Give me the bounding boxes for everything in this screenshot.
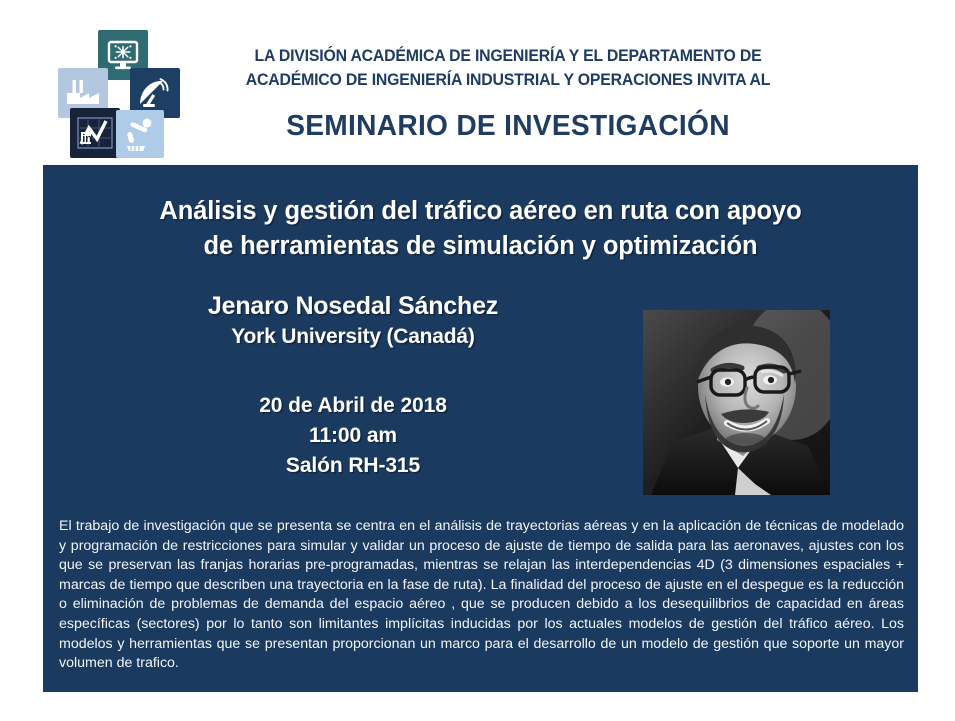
- talk-title-line-2: de herramientas de simulación y optimiza…: [71, 229, 890, 264]
- robot-arm-icon: [116, 110, 164, 158]
- seminar-heading: SEMINARIO DE INVESTIGACIÓN: [198, 108, 819, 144]
- poster-header: in LA DIVISIÓN ACADÉMICA DE INGENIERÍA Y…: [0, 0, 955, 165]
- robot-tile: [116, 110, 164, 158]
- event-date: 20 de Abril de 2018: [53, 391, 653, 421]
- talk-title-line-1: Análisis y gestión del tráfico aéreo en …: [159, 197, 801, 225]
- talk-title: Análisis y gestión del tráfico aéreo en …: [71, 194, 890, 264]
- speaker-portrait: [643, 310, 830, 495]
- svg-text:in: in: [82, 133, 92, 145]
- chart-grid-icon: in: [70, 108, 120, 158]
- organizer-text: LA DIVISIÓN ACADÉMICA DE INGENIERÍA Y EL…: [201, 44, 815, 92]
- speaker-affiliation: York University (Canadá): [53, 322, 653, 351]
- abstract-text: El trabajo de investigación que se prese…: [59, 517, 904, 674]
- portrait-photo: [643, 310, 830, 495]
- organizer-line-2: ACADÉMICO DE INGENIERÍA INDUSTRIAL Y OPE…: [201, 68, 815, 92]
- chart-tile: in: [70, 108, 120, 158]
- organizer-line-1: LA DIVISIÓN ACADÉMICA DE INGENIERÍA Y EL…: [201, 44, 815, 68]
- abstract-paragraph: El trabajo de investigación que se prese…: [59, 517, 904, 674]
- event-details: 20 de Abril de 2018 11:00 am Salón RH-31…: [53, 391, 653, 481]
- institution-logo: in: [48, 30, 180, 158]
- speaker-name: Jenaro Nosedal Sánchez: [53, 290, 653, 322]
- event-time: 11:00 am: [53, 421, 653, 451]
- event-room: Salón RH-315: [53, 451, 653, 481]
- speaker-block: Jenaro Nosedal Sánchez York University (…: [53, 290, 653, 351]
- poster-body-panel: Análisis y gestión del tráfico aéreo en …: [43, 165, 918, 692]
